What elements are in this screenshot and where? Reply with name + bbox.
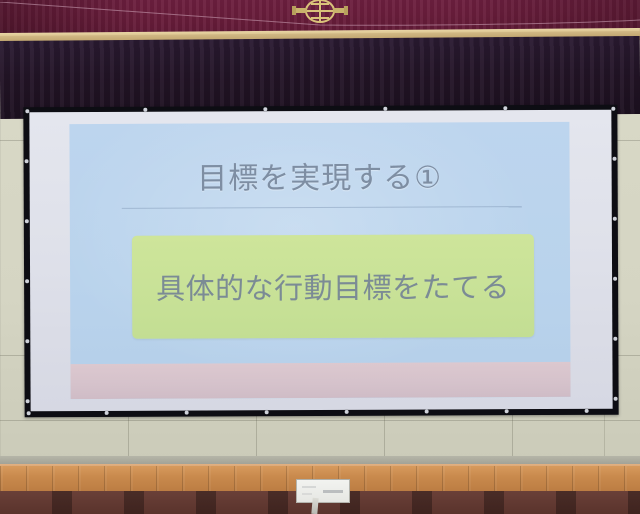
- screen-grommet: [105, 411, 109, 415]
- screen-grommet: [25, 339, 29, 343]
- projected-slide: 目標を実現する① 具体的な行動目標をたてる: [69, 122, 570, 399]
- screen-grommet: [505, 409, 509, 413]
- screen-grommet: [614, 397, 618, 401]
- projection-screen-surface: 目標を実現する① 具体的な行動目標をたてる: [29, 110, 612, 412]
- screen-grommet: [185, 411, 189, 415]
- screen-grommet: [27, 411, 31, 415]
- screen-grommet: [265, 410, 269, 414]
- screen-grommet: [143, 108, 147, 112]
- screen-grommet: [25, 279, 29, 283]
- projection-screen-frame: 目標を実現する① 具体的な行動目標をたてる: [23, 105, 618, 418]
- gold-crest-emblem-icon: [291, 0, 349, 26]
- screen-grommet: [25, 219, 29, 223]
- screen-grommet: [25, 159, 29, 163]
- screen-grommet: [613, 337, 617, 341]
- screen-grommet: [611, 107, 615, 111]
- screen-grommet: [25, 109, 29, 113]
- auditorium-stage-photo: 目標を実現する① 具体的な行動目標をたてる: [0, 0, 640, 514]
- slide-highlight-box: 具体的な行動目標をたてる: [132, 234, 534, 339]
- screen-grommet: [263, 107, 267, 111]
- small-white-placard: [296, 479, 350, 503]
- screen-grommet: [613, 217, 617, 221]
- screen-grommet: [503, 106, 507, 110]
- screen-grommet: [26, 399, 30, 403]
- screen-grommet: [585, 409, 589, 413]
- screen-grommet: [345, 410, 349, 414]
- screen-grommet: [613, 157, 617, 161]
- slide-highlight-text: 具体的な行動目標をたてる: [132, 264, 534, 308]
- screen-grommet: [383, 107, 387, 111]
- slide-footer-band: [70, 362, 570, 399]
- screen-grommet: [425, 410, 429, 414]
- slide-title: 目標を実現する①: [70, 152, 570, 198]
- screen-grommet: [613, 277, 617, 281]
